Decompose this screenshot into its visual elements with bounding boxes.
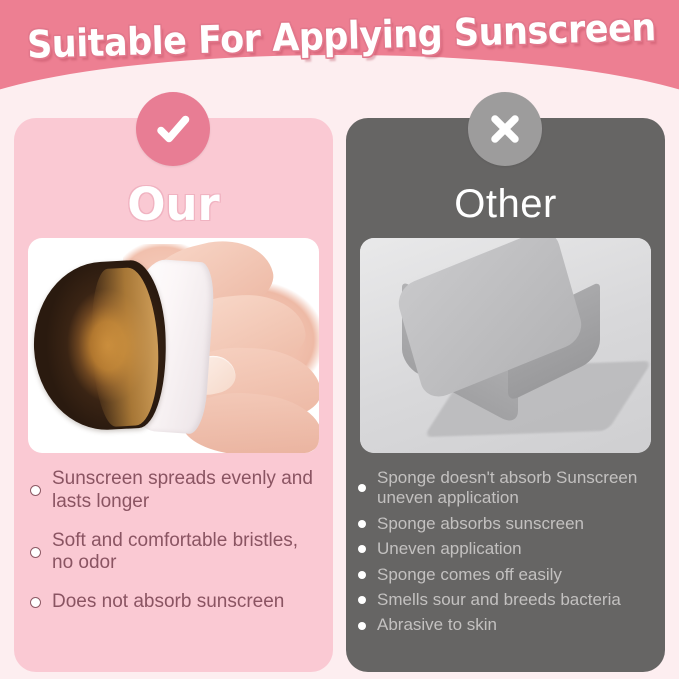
list-item-label: Soft and comfortable bristles, no odor (52, 530, 320, 576)
list-item-label: Does not absorb sunscreen (52, 591, 284, 614)
infographic-root: Suitable For Applying Sunscreen Our Suns… (0, 0, 679, 679)
bullet-icon (358, 571, 366, 579)
bullet-icon (358, 596, 366, 604)
check-icon (136, 92, 210, 166)
list-item-label: Sunscreen spreads evenly and lasts longe… (52, 468, 320, 514)
list-item: Soft and comfortable bristles, no odor (30, 530, 320, 576)
product-image-other (360, 238, 651, 453)
bullet-icon (358, 545, 366, 553)
list-item-label: Uneven application (377, 539, 522, 559)
list-item: Does not absorb sunscreen (30, 591, 320, 614)
x-icon (468, 92, 542, 166)
list-item-label: Sponge comes off easily (377, 565, 562, 585)
bullet-icon (30, 547, 41, 558)
bullet-icon (358, 520, 366, 528)
list-item: Sponge absorbs sunscreen (358, 514, 654, 534)
panel-other-heading: Other (346, 182, 665, 227)
list-item-label: Sponge doesn't absorb Sunscreen uneven a… (377, 468, 654, 509)
bullet-icon (358, 484, 366, 492)
bullet-icon (30, 597, 41, 608)
list-item: Smells sour and breeds bacteria (358, 590, 654, 610)
list-item-label: Smells sour and breeds bacteria (377, 590, 621, 610)
list-item: Abrasive to skin (358, 615, 654, 635)
header-banner: Suitable For Applying Sunscreen (0, 0, 679, 120)
list-item-label: Abrasive to skin (377, 615, 497, 635)
list-item: Sponge doesn't absorb Sunscreen uneven a… (358, 468, 654, 509)
bullet-icon (30, 485, 41, 496)
list-item-label: Sponge absorbs sunscreen (377, 514, 584, 534)
product-image-our (28, 238, 319, 453)
bullet-icon (358, 622, 366, 630)
benefits-list-our: Sunscreen spreads evenly and lasts longe… (30, 468, 320, 630)
list-item: Sponge comes off easily (358, 565, 654, 585)
list-item: Uneven application (358, 539, 654, 559)
sponge-scene (360, 238, 651, 453)
list-item: Sunscreen spreads evenly and lasts longe… (30, 468, 320, 514)
panel-our-heading: Our (14, 178, 333, 231)
drawbacks-list-other: Sponge doesn't absorb Sunscreen uneven a… (358, 468, 654, 641)
